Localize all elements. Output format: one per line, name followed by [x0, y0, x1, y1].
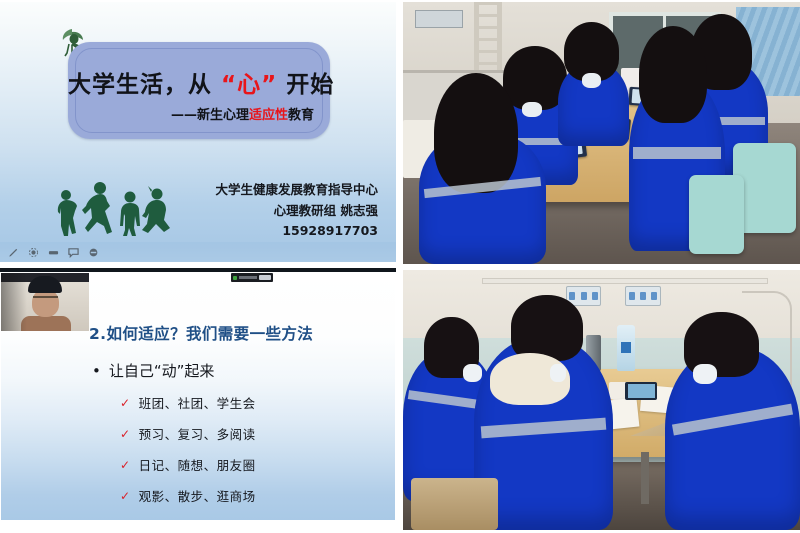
- eraser-icon[interactable]: [48, 247, 59, 258]
- check-icon: ✓: [120, 459, 131, 471]
- hair: [511, 295, 583, 360]
- webcam-person-body: [21, 316, 71, 331]
- check-icon: ✓: [120, 490, 131, 502]
- slide-subtitle: ——新生心理适应性教育: [171, 104, 314, 123]
- panel-title-slide: 大学生活，从 “心” 开始 ——新生心理适应性教育 大学生健康发展教育指导: [0, 2, 396, 262]
- face-mask-icon: [582, 73, 602, 89]
- check-icon: ✓: [120, 428, 131, 440]
- webcam-thumbnail-icon[interactable]: [1, 273, 89, 331]
- recording-indicator-icon: [233, 276, 237, 280]
- power-outlet-icon: [625, 286, 661, 307]
- credit-line-1: 大学生健康发展教育指导中心: [215, 180, 378, 201]
- pen-icon[interactable]: [8, 247, 19, 258]
- webcam-shadow: [1, 273, 27, 331]
- panel-methods-slide: 2.如何适应？我们需要一些方法 •让自己“动”起来 ✓ 班团、社团、学生会 ✓ …: [0, 268, 396, 527]
- slide-heading-part-1: 大学生活，从: [68, 72, 221, 98]
- title-slide: 大学生活，从 “心” 开始 ——新生心理适应性教育 大学生健康发展教育指导: [0, 2, 396, 262]
- annotation-toolbar[interactable]: [0, 242, 396, 262]
- wall-conduit: [482, 278, 768, 285]
- face-mask-icon: [550, 364, 566, 382]
- tablet-device: [625, 382, 657, 400]
- slide-subtitle-highlight: 适应性: [249, 108, 288, 123]
- meeting-toolbar-icon[interactable]: [231, 273, 273, 282]
- hair: [639, 26, 708, 123]
- laser-pointer-icon[interactable]: [28, 247, 39, 258]
- collage-grid: 大学生活，从 “心” 开始 ——新生心理适应性教育 大学生健康发展教育指导: [0, 0, 800, 533]
- table-leg: [641, 452, 649, 504]
- face-mask-icon: [463, 364, 483, 382]
- list-item: ✓ 日记、随想、朋友圈: [120, 455, 256, 474]
- list-item-label: 日记、随想、朋友圈: [139, 455, 256, 474]
- credit-block: 大学生健康发展教育指导中心 心理教研组 姚志强 15928917703: [215, 180, 378, 242]
- webcam-person-hair: [28, 276, 62, 293]
- methods-slide: 2.如何适应？我们需要一些方法 •让自己“动”起来 ✓ 班团、社团、学生会 ✓ …: [0, 268, 396, 527]
- credit-line-2: 心理教研组 姚志强: [215, 201, 378, 222]
- slide-subtitle-part-3: 教育: [288, 108, 314, 123]
- methods-bullet: •让自己“动”起来: [92, 360, 214, 381]
- methods-checklist: ✓ 班团、社团、学生会 ✓ 预习、复习、多阅读 ✓ 日记、随想、朋友圈 ✓ 观影…: [120, 393, 256, 517]
- student-person: [419, 133, 546, 264]
- slide-heading: 大学生活，从 “心” 开始: [68, 65, 330, 99]
- slide-heading-highlight: “心”: [221, 72, 277, 98]
- wooden-chair: [411, 478, 498, 530]
- title-box: 大学生活，从 “心” 开始 ——新生心理适应性教育: [68, 42, 330, 139]
- face-mask-icon: [693, 364, 717, 385]
- panel-photo-students-tablets: [403, 2, 800, 264]
- methods-heading: 2.如何适应？我们需要一些方法: [89, 322, 313, 344]
- more-icon[interactable]: [88, 247, 99, 258]
- toolbar-label-blur: [239, 276, 257, 279]
- face-mask-icon: [522, 102, 542, 118]
- panel-photo-students-writing: [403, 270, 800, 530]
- wall-vent-icon: [415, 10, 463, 28]
- methods-bullet-text: 让自己“动”起来: [109, 362, 215, 380]
- photo-students-tablets: [403, 2, 800, 264]
- plastic-chair: [689, 175, 745, 254]
- comment-icon[interactable]: [68, 247, 79, 258]
- check-icon: ✓: [120, 397, 131, 409]
- bullet-marker: •: [92, 362, 101, 380]
- student-person: [665, 348, 800, 530]
- uniform-reflective-stripe: [633, 147, 721, 159]
- list-item-label: 观影、散步、逛商场: [139, 486, 256, 505]
- list-item: ✓ 预习、复习、多阅读: [120, 424, 256, 443]
- webcam-person-glasses: [33, 296, 58, 304]
- list-item-label: 预习、复习、多阅读: [139, 424, 256, 443]
- slide-subtitle-part-1: ——新生心理: [171, 108, 249, 123]
- four-green-people-silhouettes-icon: [52, 178, 172, 240]
- hair: [564, 22, 620, 81]
- credit-line-3: 15928917703: [215, 221, 378, 242]
- slide-heading-part-3: 开始: [277, 72, 334, 98]
- uniform-reflective-stripe: [672, 403, 794, 435]
- toolbar-button-blur[interactable]: [259, 275, 271, 280]
- water-bottle: [617, 325, 635, 372]
- list-item: ✓ 观影、散步、逛商场: [120, 486, 256, 505]
- list-item-label: 班团、社团、学生会: [139, 393, 256, 412]
- hair: [434, 73, 518, 194]
- hair: [503, 46, 567, 110]
- uniform-reflective-stripe: [481, 418, 607, 438]
- list-item: ✓ 班团、社团、学生会: [120, 393, 256, 412]
- photo-students-writing: [403, 270, 800, 530]
